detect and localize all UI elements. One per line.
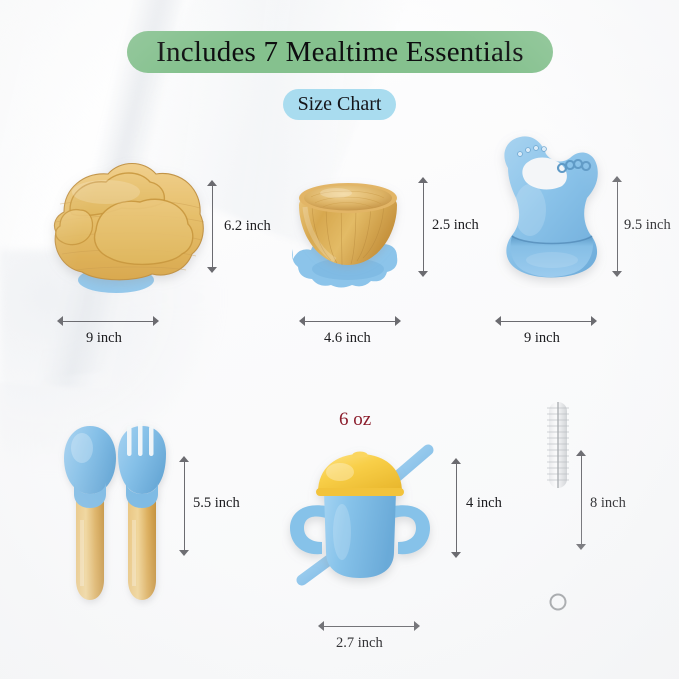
bowl-height-label: 2.5 inch — [432, 217, 479, 234]
cloud-plate-height-arrow — [207, 180, 218, 273]
straw-brush-height-label: 8 inch — [590, 495, 626, 512]
sippy-cup-width-arrow — [318, 621, 420, 632]
headline-text: Includes 7 Mealtime Essentials — [156, 36, 524, 69]
cloud-plate-width-label: 9 inch — [86, 330, 122, 347]
size-chart-badge: Size Chart — [283, 89, 396, 120]
cup-handle-right — [394, 505, 430, 554]
product-bamboo-bowl — [281, 163, 416, 295]
bowl-width-arrow — [299, 316, 401, 327]
size-chart-text: Size Chart — [298, 93, 382, 116]
product-spoon-fork — [58, 410, 178, 610]
bamboo-bowl-illustration — [281, 163, 416, 295]
sippy-cup-illustration — [282, 444, 442, 590]
silicone-bib-illustration — [490, 128, 615, 288]
bib-width-label: 9 inch — [524, 330, 560, 347]
bamboo-spoon — [64, 426, 116, 600]
sippy-cup-capacity-label: 6 oz — [339, 409, 371, 431]
brush-bristles — [547, 402, 569, 488]
product-silicone-bib — [490, 128, 615, 288]
cup-handle-left — [290, 505, 326, 554]
sippy-cup-height-arrow — [451, 458, 462, 558]
infographic-canvas: Includes 7 Mealtime Essentials Size Char… — [0, 0, 679, 679]
bib-height-arrow — [612, 176, 623, 277]
product-sippy-cup — [282, 444, 442, 590]
cloud-plate-width-arrow — [57, 316, 159, 327]
cloud-plate-height-label: 6.2 inch — [224, 218, 271, 235]
bowl-height-arrow — [418, 177, 429, 277]
spoon-fork-height-label: 5.5 inch — [193, 495, 240, 512]
sippy-cup-height-label: 4 inch — [466, 495, 502, 512]
bib-width-arrow — [495, 316, 597, 327]
bib-height-label: 9.5 inch — [624, 217, 671, 234]
sippy-cup-width-label: 2.7 inch — [336, 635, 383, 652]
bamboo-fork — [118, 422, 166, 600]
bowl-width-label: 4.6 inch — [324, 330, 371, 347]
straw-brush-height-arrow — [576, 450, 587, 550]
cloud-plate-illustration — [36, 152, 216, 297]
spoon-fork-height-arrow — [179, 456, 190, 556]
spoon-fork-illustration — [58, 410, 178, 610]
product-cloud-plate — [36, 152, 216, 297]
headline-banner: Includes 7 Mealtime Essentials — [127, 31, 553, 73]
